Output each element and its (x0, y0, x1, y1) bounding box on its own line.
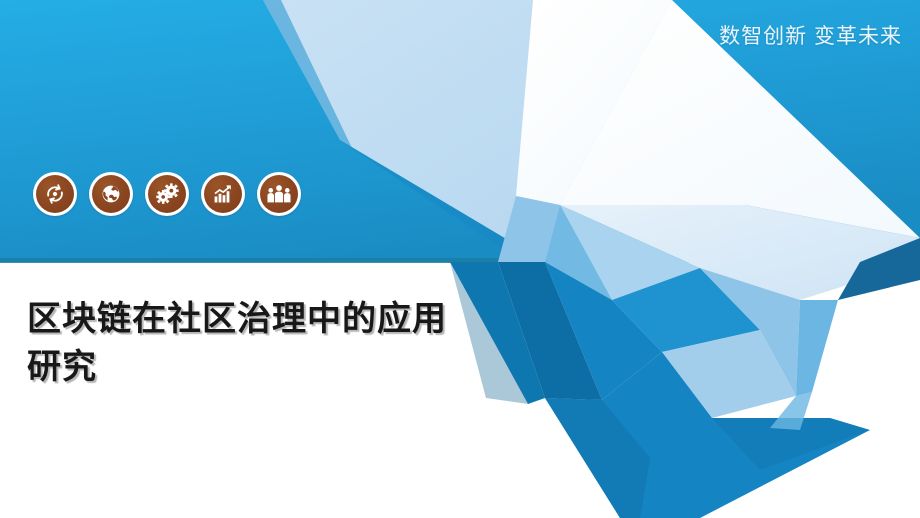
badge-globe (89, 172, 133, 216)
badge-people-group (257, 172, 301, 216)
badge-recycle-arrows (33, 172, 77, 216)
gears-icon (155, 182, 180, 207)
page-title-line-1: 区块链在社区治理中的应用 (27, 295, 547, 343)
page-title-line-2: 研究 (27, 343, 547, 391)
recycle-arrows-icon (43, 182, 67, 206)
page-title: 区块链在社区治理中的应用 研究 (27, 295, 547, 392)
slide-canvas: 数智创新 变革未来 (0, 0, 920, 518)
globe-icon (99, 182, 123, 206)
polygonal-paper-plane-graphic (0, 0, 920, 518)
badge-gears (145, 172, 189, 216)
slide-tagline: 数智创新 变革未来 (719, 26, 902, 47)
people-group-icon (266, 182, 292, 206)
icon-strip (33, 172, 301, 216)
bar-chart-icon (211, 182, 235, 206)
badge-bar-chart (201, 172, 245, 216)
